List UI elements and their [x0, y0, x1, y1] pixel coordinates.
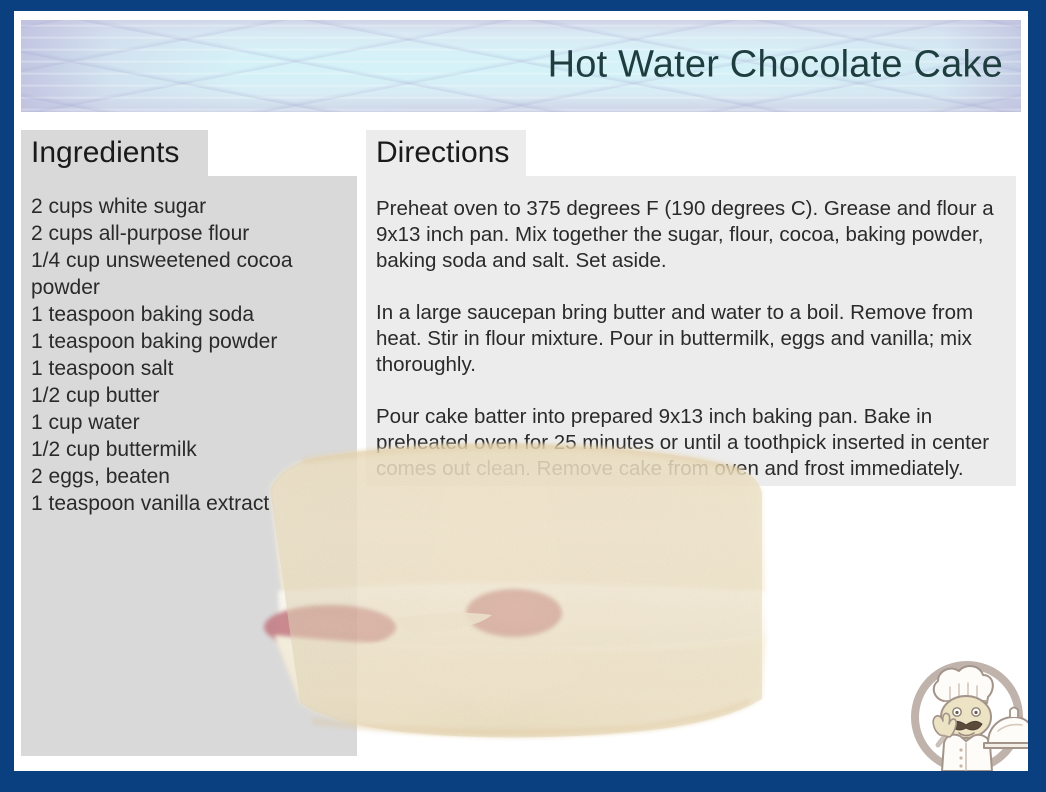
list-item: 1/4 cup unsweetened cocoa powder: [31, 247, 351, 301]
chef-with-cloche-logo: [904, 651, 1028, 771]
list-item: 1 teaspoon vanilla extract: [31, 490, 351, 517]
page-title: Hot Water Chocolate Cake: [548, 45, 1003, 85]
directions-body: Preheat oven to 375 degrees F (190 degre…: [376, 196, 1016, 482]
ingredients-list: 2 cups white sugar 2 cups all-purpose fl…: [31, 193, 351, 517]
list-item: 1 cup water: [31, 409, 351, 436]
list-item: 1/2 cup buttermilk: [31, 436, 351, 463]
ingredients-heading: Ingredients: [31, 133, 179, 173]
title-banner: Hot Water Chocolate Cake: [21, 20, 1021, 112]
list-item: 1/2 cup butter: [31, 382, 351, 409]
list-item: 2 cups all-purpose flour: [31, 220, 351, 247]
directions-paragraph: Pour cake batter into prepared 9x13 inch…: [376, 404, 1016, 482]
list-item: 1 teaspoon baking powder: [31, 328, 351, 355]
recipe-slide: Hot Water Chocolate Cake Ingredients 2 c…: [0, 0, 1046, 792]
list-item: 1 teaspoon baking soda: [31, 301, 351, 328]
slide-canvas: Hot Water Chocolate Cake Ingredients 2 c…: [14, 11, 1028, 771]
list-item: 1 teaspoon salt: [31, 355, 351, 382]
list-item: 2 cups white sugar: [31, 193, 351, 220]
list-item: 2 eggs, beaten: [31, 463, 351, 490]
directions-paragraph: Preheat oven to 375 degrees F (190 degre…: [376, 196, 1016, 274]
directions-heading: Directions: [376, 133, 509, 173]
directions-paragraph: In a large saucepan bring butter and wat…: [376, 300, 1016, 378]
